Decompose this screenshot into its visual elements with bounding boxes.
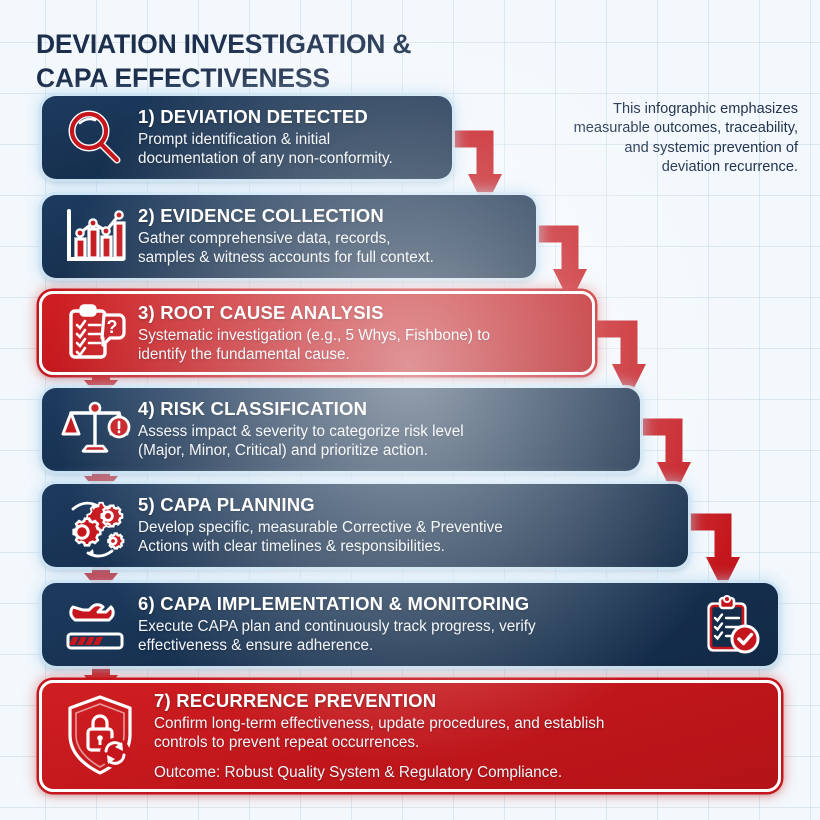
bar-chart-icon (52, 202, 138, 272)
step-3-body-line-1: Systematic investigation (e.g., 5 Whys, … (138, 326, 578, 345)
step-card-5[interactable]: 5) CAPA PLANNING Develop specific, measu… (42, 484, 688, 567)
magnifier-icon (52, 103, 138, 173)
step-card-7[interactable]: 7) RECURRENCE PREVENTION Confirm long-te… (39, 680, 781, 792)
clipboard-check-icon (700, 594, 762, 656)
step-5-heading: 5) CAPA PLANNING (138, 494, 674, 516)
wrench-progress-icon (52, 590, 138, 660)
note-line-3: and systemic prevention of (624, 140, 798, 156)
step-5-body-line-2: Actions with clear timelines & responsib… (138, 537, 674, 556)
step-3-text: 3) ROOT CAUSE ANALYSIS Systematic invest… (138, 302, 578, 364)
step-card-2[interactable]: 2) EVIDENCE COLLECTION Gather comprehens… (42, 195, 536, 278)
step-2-body-line-2: samples & witness accounts for full cont… (138, 248, 522, 267)
step-6-body-line-1: Execute CAPA plan and continuously track… (138, 617, 692, 636)
step-1-body-line-1: Prompt identification & initial (138, 130, 438, 149)
step-7-body-line-2: controls to prevent repeat occurrences. (154, 733, 764, 752)
gears-cycle-icon (52, 490, 138, 562)
shield-lock-refresh-icon (52, 688, 154, 784)
note-line-1: This infographic emphasizes (613, 101, 798, 117)
step-1-heading: 1) DEVIATION DETECTED (138, 106, 438, 128)
page-title-line-2: CAPA EFFECTIVENESS (36, 62, 476, 96)
step-4-body-line-1: Assess impact & severity to categorize r… (138, 422, 626, 441)
page-title: DEVIATION INVESTIGATION & CAPA EFFECTIVE… (36, 28, 476, 95)
step-2-body-line-1: Gather comprehensive data, records, (138, 229, 522, 248)
step-1-text: 1) DEVIATION DETECTED Prompt identificat… (138, 106, 438, 168)
svg-text:?: ? (107, 317, 118, 337)
step-6-text: 6) CAPA IMPLEMENTATION & MONITORING Exec… (138, 593, 692, 655)
step-7-body-line-1: Confirm long-term effectiveness, update … (154, 714, 764, 733)
step-6-heading: 6) CAPA IMPLEMENTATION & MONITORING (138, 593, 692, 615)
step-5-text: 5) CAPA PLANNING Develop specific, measu… (138, 494, 674, 556)
step-4-body-line-2: (Major, Minor, Critical) and prioritize … (138, 441, 626, 460)
step-3-heading: 3) ROOT CAUSE ANALYSIS (138, 302, 578, 324)
step-card-4[interactable]: 4) RISK CLASSIFICATION Assess impact & s… (42, 388, 640, 471)
step-card-3[interactable]: ? 3) ROOT CAUSE ANALYSIS Systematic inve… (39, 291, 595, 375)
note-line-4: deviation recurrence. (662, 159, 798, 175)
step-card-6[interactable]: 6) CAPA IMPLEMENTATION & MONITORING Exec… (42, 583, 778, 666)
note-line-2: measurable outcomes, traceability, (574, 120, 798, 136)
step-5-body-line-1: Develop specific, measurable Corrective … (138, 518, 674, 537)
step-7-heading: 7) RECURRENCE PREVENTION (154, 690, 764, 712)
step-card-1[interactable]: 1) DEVIATION DETECTED Prompt identificat… (42, 96, 452, 179)
step-6-body-line-2: effectiveness & ensure adherence. (138, 636, 692, 655)
step-3-body-line-2: identify the fundamental cause. (138, 345, 578, 364)
step-7-outcome: Outcome: Robust Quality System & Regulat… (154, 763, 764, 782)
clipboard-question-icon: ? (52, 298, 138, 368)
infographic-canvas: DEVIATION INVESTIGATION & CAPA EFFECTIVE… (0, 0, 820, 820)
step-4-heading: 4) RISK CLASSIFICATION (138, 398, 626, 420)
step-2-text: 2) EVIDENCE COLLECTION Gather comprehens… (138, 205, 522, 267)
step-2-heading: 2) EVIDENCE COLLECTION (138, 205, 522, 227)
page-title-line-1: DEVIATION INVESTIGATION & (36, 28, 476, 62)
infographic-note: This infographic emphasizes measurable o… (520, 100, 798, 178)
step-1-body-line-2: documentation of any non-conformity. (138, 149, 438, 168)
step-4-text: 4) RISK CLASSIFICATION Assess impact & s… (138, 398, 626, 460)
step-7-text: 7) RECURRENCE PREVENTION Confirm long-te… (154, 690, 764, 783)
scales-warning-icon (52, 395, 138, 465)
